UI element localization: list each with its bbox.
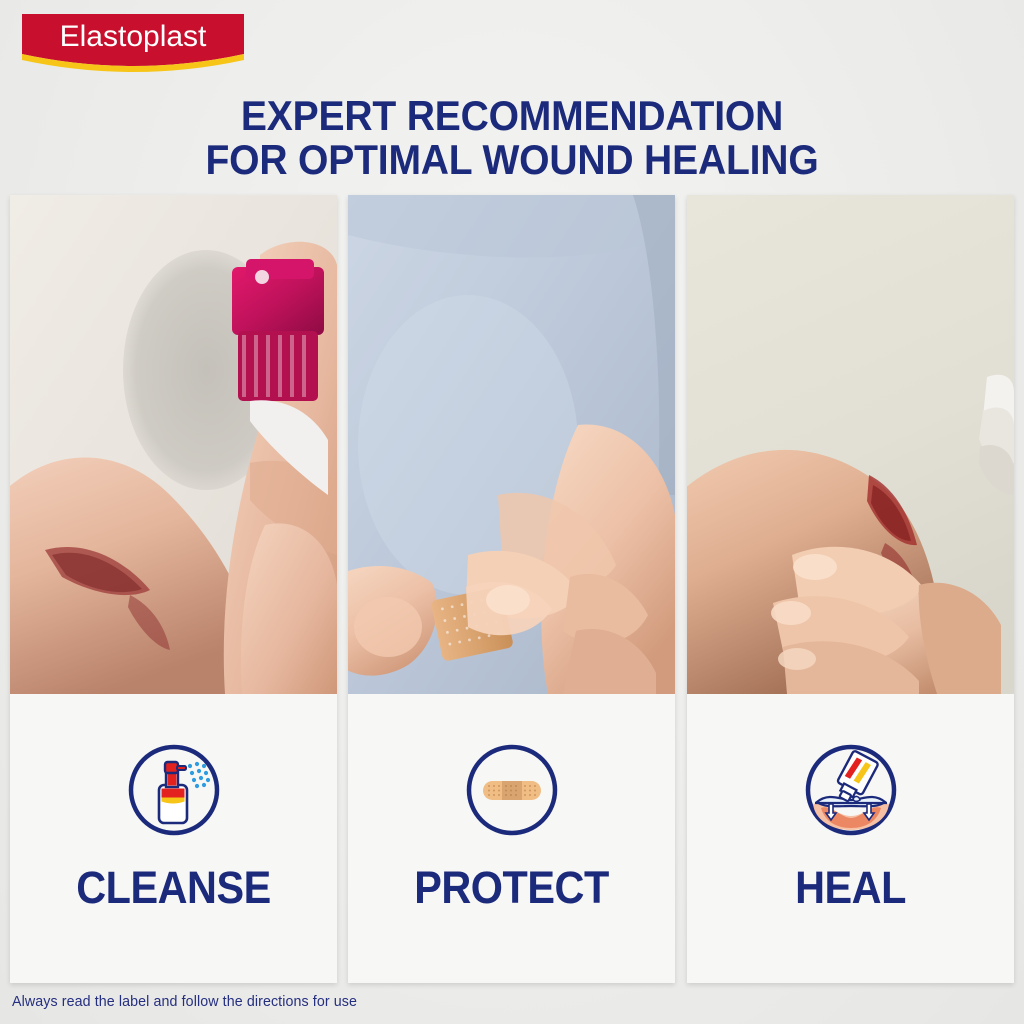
logo-graphic: Elastoplast — [18, 10, 248, 78]
protect-scene-art — [348, 195, 675, 694]
wound-healing-gel-tube-icon — [803, 742, 899, 838]
step-photo-cleanse — [10, 195, 337, 694]
bottle-nozzle — [177, 766, 186, 770]
logo-wordmark: Elastoplast — [60, 20, 207, 53]
gel-drop — [853, 796, 860, 801]
step-card-cleanse[interactable]: CLEANSE — [10, 195, 337, 983]
disclaimer-text: Always read the label and follow the dir… — [12, 993, 357, 1010]
promo-canvas: Elastoplast EXPERT RECOMMENDATION FOR OP… — [0, 0, 1024, 1024]
step-photo-heal — [687, 195, 1014, 694]
step-photo-protect — [348, 195, 675, 694]
step-caption-protect: PROTECT — [348, 694, 675, 983]
plaster-bandage-icon — [464, 742, 560, 838]
spray-droplets — [187, 762, 209, 788]
step-caption-cleanse: CLEANSE — [10, 694, 337, 983]
step-label-heal: HEAL — [700, 864, 1001, 912]
cleanse-scene-art — [10, 195, 337, 694]
bottle-neck-fill — [167, 773, 176, 786]
step-card-protect[interactable]: PROTECT — [348, 195, 675, 983]
headline-line-1: EXPERT RECOMMENDATION — [36, 94, 988, 138]
bottle-label-band — [161, 789, 184, 798]
heal-scene-art — [687, 195, 1014, 694]
step-label-protect: PROTECT — [361, 864, 662, 912]
step-caption-heal: HEAL — [687, 694, 1014, 983]
step-label-cleanse: CLEANSE — [23, 864, 324, 912]
headline-line-2: FOR OPTIMAL WOUND HEALING — [36, 138, 988, 182]
spray-bottle-icon — [126, 742, 222, 838]
step-card-heal[interactable]: HEAL — [687, 195, 1014, 983]
page-title: EXPERT RECOMMENDATION FOR OPTIMAL WOUND … — [36, 94, 988, 182]
elastoplast-logo: Elastoplast — [18, 10, 248, 78]
